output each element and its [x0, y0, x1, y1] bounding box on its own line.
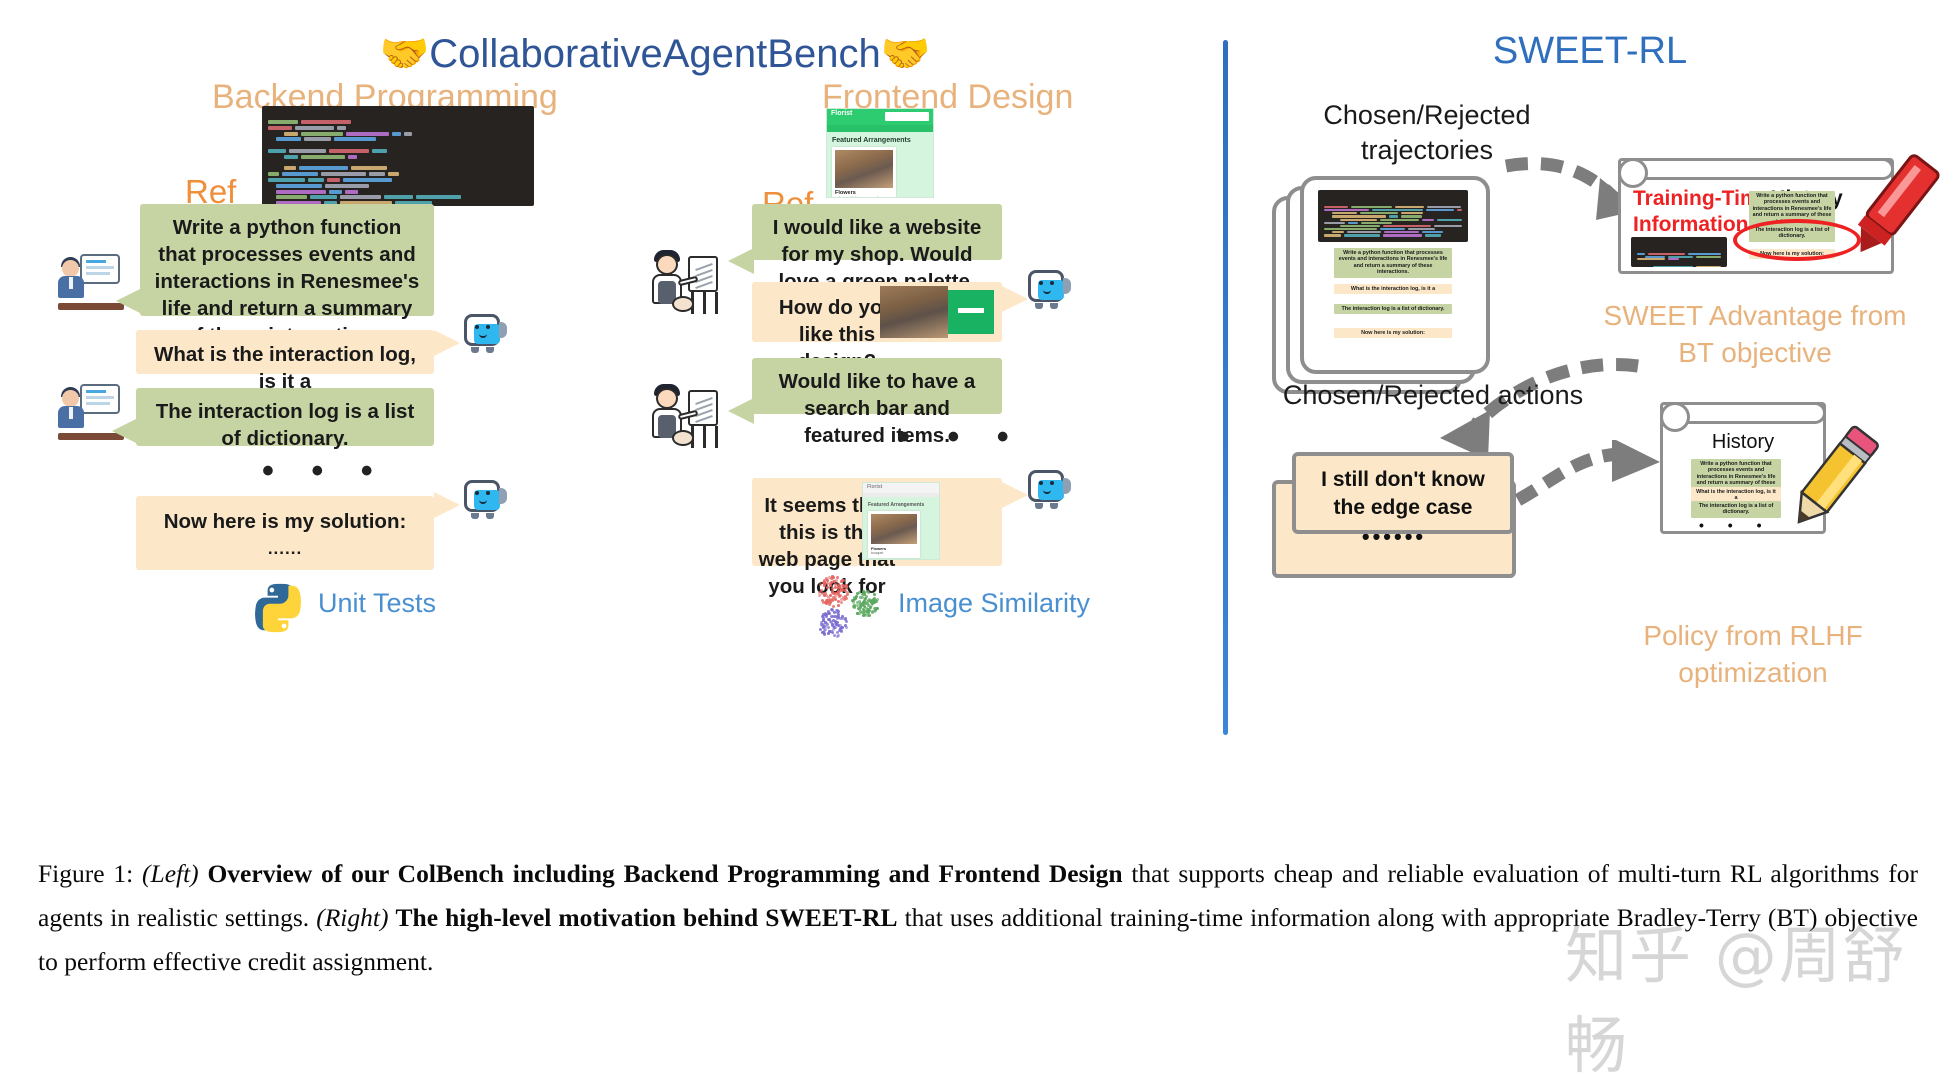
caption-left-tag: (Left) [142, 859, 199, 888]
history-mini-bubble-3: The interaction log is a list of diction… [1691, 501, 1781, 518]
scroll-title-line2: Information [1633, 213, 1749, 237]
human-user-icon-1 [58, 252, 124, 310]
mockup-card: Flowers A beautiful bouquet of flowers f… [832, 147, 896, 198]
mockup-card-photo [835, 150, 893, 188]
mini-code-screenshot [1318, 190, 1468, 242]
bubble-tail [434, 492, 460, 518]
agent-robot-icon-3 [1026, 268, 1070, 316]
chosen-rejected-actions-label: Chosen/Rejected actions [1268, 378, 1598, 413]
bubble-tail [728, 248, 754, 274]
frontend-message-1: I would like a website for my shop. Woul… [752, 204, 1002, 260]
action-bubble-text: I still don't know the edge case [1304, 466, 1502, 523]
mini-bubble-3: The interaction log is a list of diction… [1334, 304, 1452, 314]
frontend-message-4-mockup: Florist Featured Arrangements Flowersbou… [862, 482, 940, 560]
agent-robot-icon-2 [462, 478, 506, 526]
backend-message-2: What is the interaction log, is it a [136, 330, 434, 374]
scroll-code-screenshot [1631, 237, 1727, 267]
backend-metric-label: Unit Tests [318, 588, 436, 619]
red-marker-icon [1840, 148, 1950, 268]
bubble-tail [1002, 286, 1028, 312]
frontend-metric-label: Image Similarity [898, 588, 1090, 619]
figure-panel: 🤝CollaborativeAgentBench🤝 SWEET-RL Backe… [0, 0, 1956, 840]
panel-divider [1223, 40, 1228, 735]
sweet-rl-title: SWEET-RL [1430, 30, 1750, 73]
frontend-message-3: Would like to have a search bar and feat… [752, 358, 1002, 414]
action-bubble-front: I still don't know the edge case [1292, 452, 1514, 534]
backend-message-3: The interaction log is a list of diction… [136, 388, 434, 446]
painter-human-icon-1 [648, 248, 722, 318]
mini-bubble-2: What is the interaction log, is it a [1334, 284, 1452, 294]
caption-prefix: Figure 1: [38, 859, 133, 888]
bubble-tail [434, 330, 460, 356]
mockup-subbar [827, 125, 933, 132]
agent-robot-icon-4 [1026, 468, 1070, 516]
reference-code-screenshot [262, 106, 534, 206]
scatter-cluster-icon [806, 574, 884, 640]
handshake-emoji-right: 🤝 [881, 32, 931, 76]
mini-bubble-4: Now here is my solution: [1334, 328, 1452, 338]
caption-bold-1: Overview of our ColBench including Backe… [207, 859, 1122, 888]
policy-rlhf-label: Policy from RLHF optimization [1588, 618, 1918, 692]
history-ellipsis: • • • [1699, 517, 1771, 533]
figure-caption: Figure 1: (Left) Overview of our ColBenc… [38, 852, 1918, 984]
bubble-tail [728, 398, 754, 424]
mockup-heading: Featured Arrangements [832, 137, 933, 144]
trajectory-card-front: Write a python function that processes e… [1300, 176, 1490, 374]
mockup-navbar: Florist [827, 109, 933, 125]
bubble-tail [112, 418, 138, 444]
mockup-search-box[interactable] [885, 112, 929, 121]
frontend-reference-mockup: Florist Featured Arrangements Flowers A … [826, 108, 934, 198]
python-logo-icon [252, 582, 304, 634]
backend-message-4: Now here is my solution: ...... [136, 496, 434, 570]
mini-bubble-1: Write a python function that processes e… [1334, 248, 1452, 278]
backend-message-4-line2: ...... [150, 538, 420, 560]
bubble-tail [116, 288, 142, 314]
agent-robot-icon-1 [462, 312, 506, 360]
page-title: 🤝CollaborativeAgentBench🤝 [345, 30, 965, 77]
painter-human-icon-2 [648, 382, 722, 452]
caption-right-tag: (Right) [316, 903, 388, 932]
frontend-message-2-swatch-bar [958, 308, 984, 313]
bubble-tail [1002, 482, 1028, 508]
caption-bold-2: The high-level motivation behind SWEET-R… [396, 903, 898, 932]
frontend-ellipsis: • • • [898, 418, 1023, 457]
backend-ellipsis: • • • [262, 452, 387, 491]
backend-message-4-line1: Now here is my solution: [150, 508, 420, 535]
frontend-message-2-image [880, 286, 948, 338]
handshake-emoji-left: 🤝 [379, 32, 429, 76]
mockup-brand: Florist [831, 110, 852, 117]
yellow-pencil-icon [1778, 420, 1888, 540]
mockup-card-desc: A beautiful bouquet of flowers for any o… [835, 196, 893, 198]
backend-message-1: Write a python function that processes e… [140, 204, 434, 316]
